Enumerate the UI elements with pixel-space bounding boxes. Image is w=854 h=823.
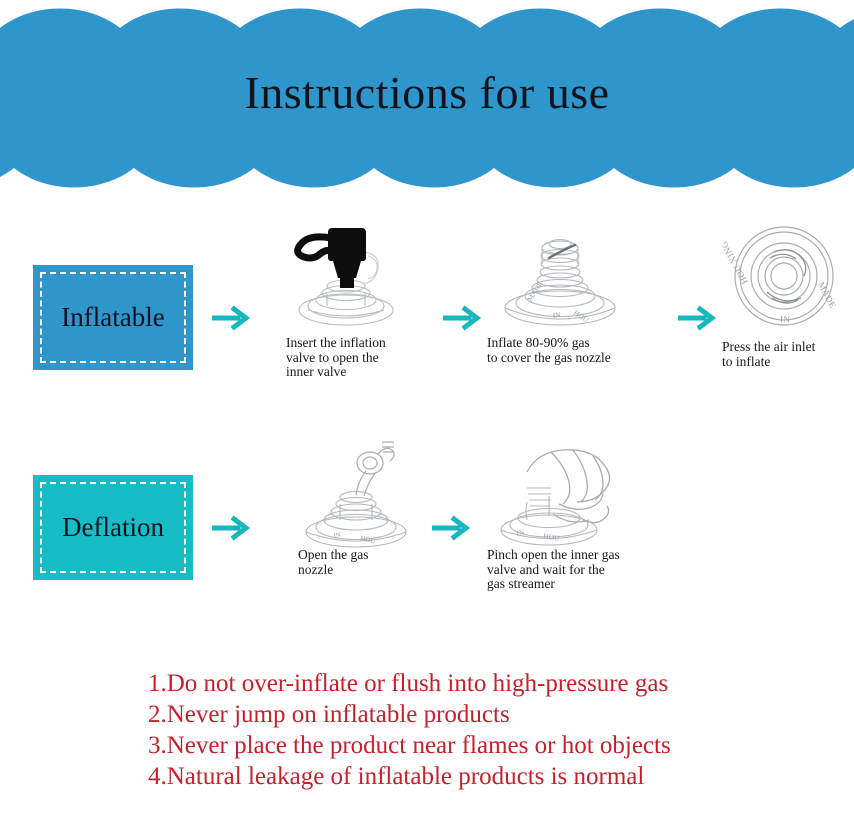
arrow-right-icon <box>212 303 254 333</box>
step-caption: Insert the inflation valve to open the i… <box>286 336 436 380</box>
section-deflation: Deflation <box>0 432 854 612</box>
svg-text:IN: IN <box>333 531 342 540</box>
pinch-inner-valve-hand-icon: IN HOU <box>487 432 662 542</box>
section-inflatable: Inflatable <box>0 218 854 398</box>
arrow-right-icon <box>678 303 720 333</box>
mode-label-deflation: Deflation <box>62 512 164 543</box>
step-caption: Open the gas nozzle <box>298 548 448 577</box>
warning-item: 1.Do not over-inflate or flush into high… <box>148 668 854 699</box>
warning-list: 1.Do not over-inflate or flush into high… <box>148 668 854 792</box>
svg-text:IN: IN <box>516 527 526 538</box>
step-caption: Inflate 80-90% gas to cover the gas nozz… <box>487 336 652 365</box>
arrow-right-icon <box>432 513 474 543</box>
mode-box-inflatable: Inflatable <box>33 265 193 370</box>
mode-box-deflation: Deflation <box>33 475 193 580</box>
step-inflate-80-90: MADE IN HOU Inflate 80-90% gas to cover … <box>487 218 652 365</box>
warning-item: 4.Natural leakage of inflatable products… <box>148 761 854 792</box>
step-caption: Press the air inlet to inflate <box>722 340 854 369</box>
arrow-right-icon <box>212 513 254 543</box>
step-press-air-inlet: HOU XING MADE IN Press the air inlet to … <box>722 218 854 369</box>
svg-text:MADE: MADE <box>816 280 838 310</box>
page-title: Instructions for use <box>0 66 854 120</box>
svg-text:IN: IN <box>552 310 561 320</box>
step-insert-inflation-valve: Insert the inflation valve to open the i… <box>286 218 436 380</box>
arrow-right-icon <box>443 303 485 333</box>
step-open-gas-nozzle: IN HOU Open the gas nozzle <box>298 432 448 577</box>
svg-text:HOU: HOU <box>360 534 377 545</box>
gas-nozzle-valve-icon: MADE IN HOU <box>487 218 652 328</box>
valve-top-view-icon: HOU XING MADE IN <box>722 218 854 328</box>
step-pinch-inner-valve: IN HOU Pinch open the inner gas valve an… <box>487 432 662 592</box>
mode-label-inflatable: Inflatable <box>61 302 164 333</box>
header-banner: Instructions for use <box>0 0 854 200</box>
step-caption: Pinch open the inner gas valve and wait … <box>487 548 662 592</box>
warning-item: 2.Never jump on inflatable products <box>148 699 854 730</box>
svg-text:HOU: HOU <box>543 531 561 543</box>
inflation-nozzle-inserted-icon <box>286 218 436 328</box>
open-gas-nozzle-icon: IN HOU <box>298 432 448 542</box>
svg-text:IN: IN <box>780 314 791 324</box>
warning-item: 3.Never place the product near flames or… <box>148 730 854 761</box>
